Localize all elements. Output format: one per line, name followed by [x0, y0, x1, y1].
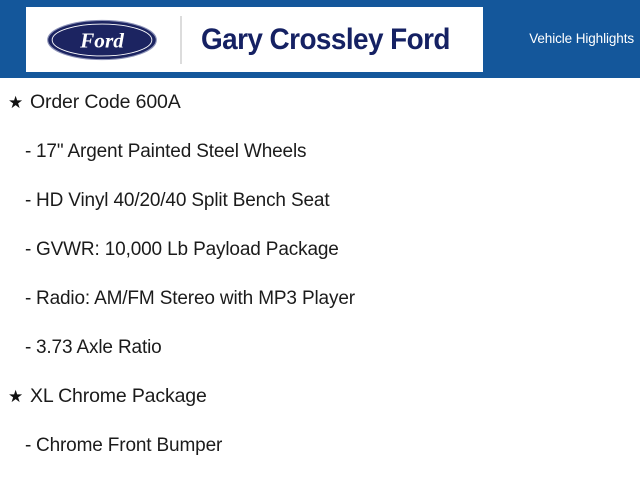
page-header: Ford Gary Crossley Ford Vehicle Highligh…: [0, 0, 640, 78]
highlight-item-label: 3.73 Axle Ratio: [36, 337, 162, 359]
highlight-item-label: Order Code 600A: [30, 91, 181, 114]
highlight-item-label: HD Vinyl 40/20/40 Split Bench Seat: [36, 190, 329, 212]
highlight-item-label: XL Chrome Package: [30, 385, 207, 408]
header-vertical-divider: [180, 16, 182, 64]
vehicle-highlights-list: ★Order Code 600A-17" Argent Painted Stee…: [0, 78, 640, 470]
svg-text:Ford: Ford: [79, 28, 124, 52]
dash-bullet-icon: -: [25, 337, 36, 359]
dash-bullet-icon: -: [25, 435, 36, 457]
dash-bullet-icon: -: [25, 141, 36, 163]
dash-bullet-icon: -: [25, 239, 36, 261]
star-bullet-icon: ★: [8, 94, 30, 111]
vehicle-highlights-label: Vehicle Highlights: [529, 31, 634, 46]
highlight-detail-row: -17" Argent Painted Steel Wheels: [0, 127, 640, 176]
highlight-detail-row: -GVWR: 10,000 Lb Payload Package: [0, 225, 640, 274]
highlight-group-row: ★Order Code 600A: [0, 78, 640, 127]
highlight-detail-row: -Chrome Front Bumper: [0, 421, 640, 470]
dash-bullet-icon: -: [25, 190, 36, 212]
highlight-detail-row: -HD Vinyl 40/20/40 Split Bench Seat: [0, 176, 640, 225]
dealer-branding-card: Ford Gary Crossley Ford: [26, 7, 483, 72]
dealer-name: Gary Crossley Ford: [201, 23, 450, 57]
dash-bullet-icon: -: [25, 288, 36, 310]
highlight-item-label: GVWR: 10,000 Lb Payload Package: [36, 239, 339, 261]
highlight-group-row: ★XL Chrome Package: [0, 372, 640, 421]
star-bullet-icon: ★: [8, 388, 30, 405]
highlight-item-label: 17" Argent Painted Steel Wheels: [36, 141, 306, 163]
highlight-item-label: Radio: AM/FM Stereo with MP3 Player: [36, 288, 355, 310]
highlight-item-label: Chrome Front Bumper: [36, 435, 222, 457]
ford-oval-logo: Ford: [46, 18, 158, 62]
highlight-detail-row: -Radio: AM/FM Stereo with MP3 Player: [0, 274, 640, 323]
highlight-detail-row: -3.73 Axle Ratio: [0, 323, 640, 372]
